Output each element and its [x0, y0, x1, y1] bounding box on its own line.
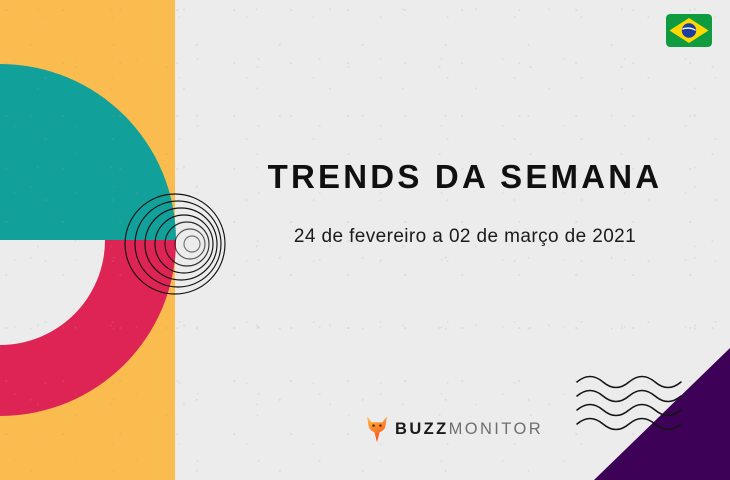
buzzmonitor-wordmark: BUZZMONITOR — [395, 421, 543, 438]
logo-monitor-text: MONITOR — [449, 420, 543, 438]
logo-buzz-text: BUZZ — [395, 420, 449, 438]
buzzmonitor-fox-icon — [366, 415, 388, 443]
trends-banner: TRENDS DA SEMANA 24 de fevereiro a 02 de… — [0, 0, 730, 480]
buzzmonitor-logo: BUZZMONITOR — [366, 414, 543, 444]
brazil-flag-icon — [666, 14, 712, 47]
page-title: TRENDS DA SEMANA — [230, 158, 700, 196]
date-range-subtitle: 24 de fevereiro a 02 de março de 2021 — [230, 226, 700, 248]
